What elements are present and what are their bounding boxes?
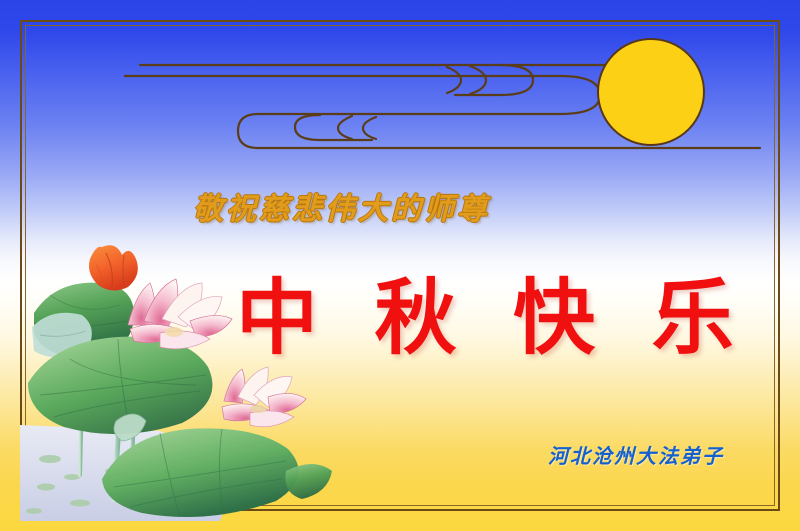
- full-moon-icon: [597, 38, 705, 146]
- greeting-card: 敬祝慈悲伟大的师尊 中 秋 快 乐 河北沧州大法弟子: [0, 0, 800, 531]
- signature-text: 河北沧州大法弟子: [548, 440, 724, 469]
- blessing-line-text: 敬祝慈悲伟大的师尊: [193, 193, 593, 226]
- main-greeting-text: 中 秋 快 乐: [236, 276, 756, 362]
